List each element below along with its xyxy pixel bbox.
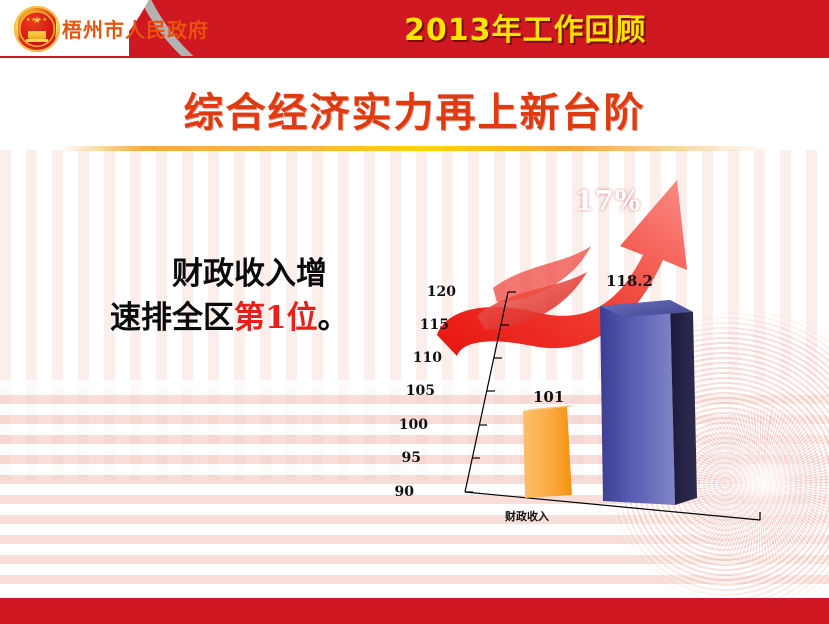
y-tick-label: 95 [377, 450, 421, 466]
y-tick-label: 115 [405, 317, 449, 333]
x-axis-category-label: 财政收入 [505, 508, 549, 524]
title-gold-divider [60, 146, 769, 151]
banner-title: 2013年工作回顾 [404, 5, 704, 49]
footer-bar [0, 598, 829, 624]
y-tick-label: 120 [412, 284, 456, 300]
emblem-inner-disc: ★ ★★★★ [19, 11, 55, 47]
bar-value-label-orange: 101 [533, 388, 564, 406]
government-name: 梧州市人民政府 [62, 14, 209, 43]
body-text-line-2-prefix: 速排全区 [110, 300, 234, 336]
body-text-highlight: 第1位 [234, 300, 318, 336]
slide-canvas: ★ ★★★★ 梧州市人民政府 2013年工作回顾 综合经济实力再上新台阶 财政收… [0, 0, 829, 624]
body-text-line-2-suffix: 。 [318, 300, 349, 336]
bar-orange [523, 405, 575, 498]
slide-header: ★ ★★★★ 梧州市人民政府 2013年工作回顾 [0, 0, 829, 57]
china-national-emblem-icon: ★ ★★★★ [14, 6, 60, 52]
y-tick-label: 110 [398, 350, 442, 366]
emblem-tiananmen [28, 31, 46, 39]
body-text-line-1: 财政收入增 [110, 252, 410, 296]
bar-value-label-blue: 118.2 [606, 272, 653, 290]
y-tick-label: 100 [384, 417, 428, 433]
emblem-base-bar [26, 39, 48, 42]
header-bottom-rule [0, 56, 829, 58]
y-tick-label: 105 [391, 383, 435, 399]
body-text-block: 财政收入增 速排全区第1位。 [110, 252, 410, 340]
growth-percent-label: 17% [575, 186, 641, 217]
page-title: 综合经济实力再上新台阶 [0, 80, 829, 138]
y-tick-label: 90 [370, 484, 414, 500]
emblem-small-stars: ★★★★ [26, 18, 48, 23]
body-text-line-2: 速排全区第1位。 [110, 296, 410, 340]
bar-blue [600, 300, 697, 505]
